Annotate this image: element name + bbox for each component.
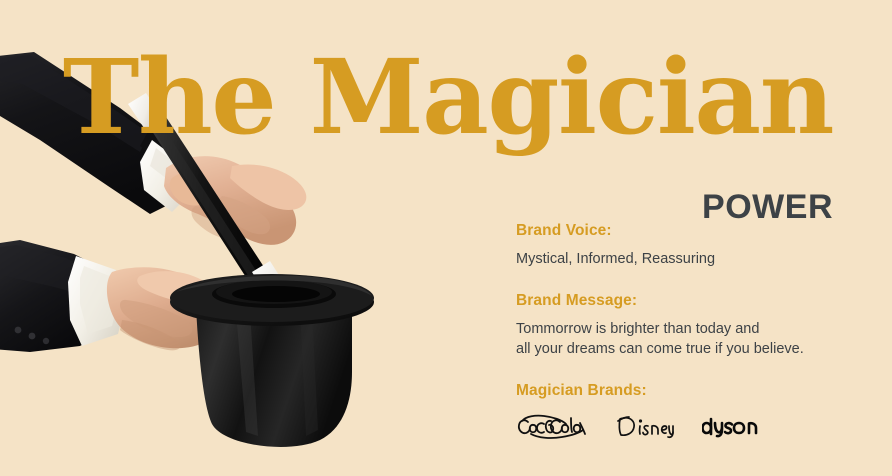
magician-hands-photo <box>0 0 420 476</box>
coca-cola-logo <box>516 414 588 440</box>
brand-voice-value: Mystical, Informed, Reassuring <box>516 249 876 270</box>
dyson-logo <box>702 416 764 438</box>
magician-archetype-slide: The Magician POWER Brand Voice: Mystical… <box>0 0 892 476</box>
brand-message-line-2: all your dreams can come true if you bel… <box>516 339 876 360</box>
brand-message-line-1: Tommorrow is brighter than today and <box>516 319 876 340</box>
brand-message-label: Brand Message: <box>516 292 876 310</box>
brand-message-group: Brand Message: Tommorrow is brighter tha… <box>516 292 876 360</box>
magician-brands-label: Magician Brands: <box>516 382 876 400</box>
black-top-hat <box>170 274 374 447</box>
brand-voice-label: Brand Voice: <box>516 222 876 240</box>
magician-brands-group: Magician Brands: <box>516 382 876 442</box>
disney-logo <box>616 414 674 440</box>
info-column: Brand Voice: Mystical, Informed, Reassur… <box>516 222 876 442</box>
brand-voice-group: Brand Voice: Mystical, Informed, Reassur… <box>516 222 876 270</box>
brand-logo-row <box>516 412 876 442</box>
